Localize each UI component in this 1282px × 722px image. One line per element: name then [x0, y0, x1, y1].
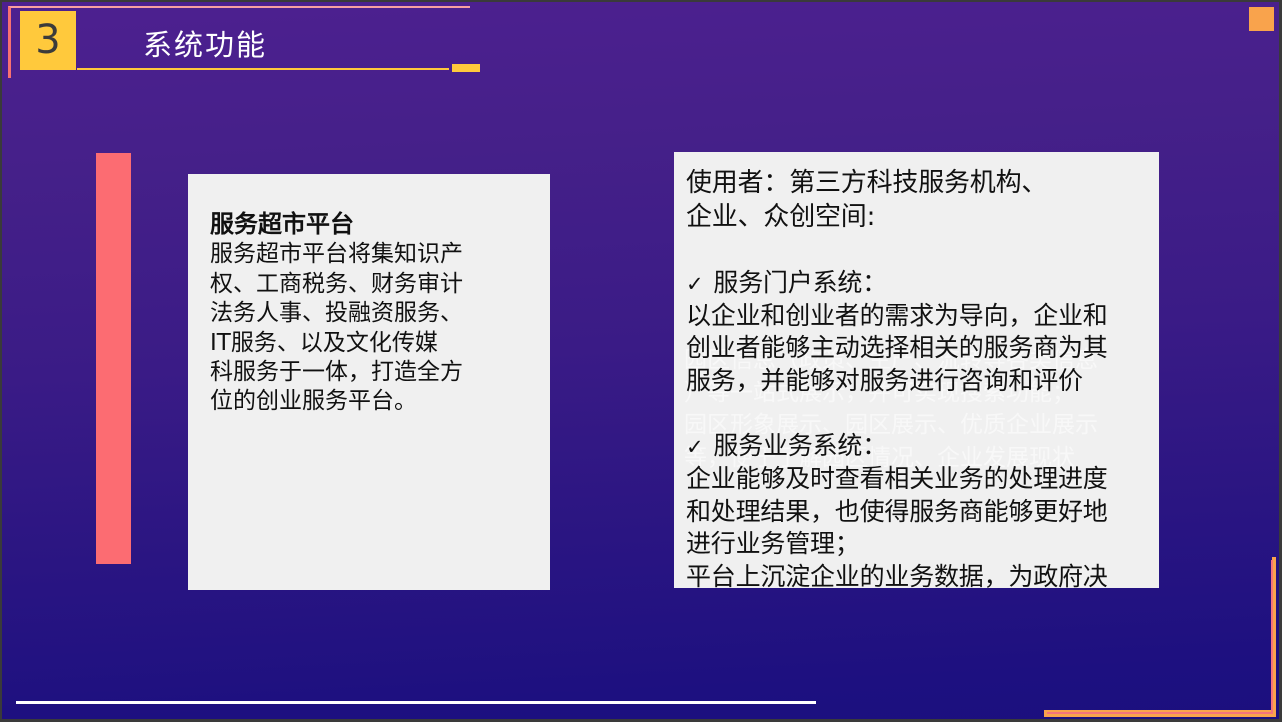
top-right-square-accent: [1249, 7, 1274, 31]
left-card-heading: 服务超市平台: [210, 210, 528, 239]
checkmark-icon: ✓: [686, 435, 703, 459]
section-number-badge: 3: [20, 11, 76, 70]
page-title: 系统功能: [143, 22, 267, 64]
left-accent-bar: [96, 153, 131, 564]
slide-edge-top: [0, 0, 1282, 2]
presentation-slide: 3 系统功能 服务超市平台 服务超市平台将集知识产 权、工商税务、财务审计 法务…: [0, 0, 1282, 722]
bottom-left-rule: [16, 701, 816, 704]
right-card-bullet-2-label: 服务业务系统：: [713, 431, 887, 460]
slide-edge-left: [0, 0, 2, 722]
right-card-bullet-2: ✓服务业务系统：: [686, 398, 1145, 463]
section-number: 3: [35, 20, 60, 60]
right-content-card: 园区信息（政策、生产、流转等各类信息 ）等一站式展示，并可实现搜索功能； 园区形…: [674, 152, 1159, 588]
left-content-card: 服务超市平台 服务超市平台将集知识产 权、工商税务、财务审计 法务人事、投融资服…: [188, 174, 550, 590]
right-card-bullet-2-body: 企业能够及时查看相关业务的处理进度 和处理结果，也使得服务商能够更好地 进行业务…: [686, 463, 1145, 588]
header-underline: [77, 68, 449, 70]
right-card-heading: 使用者：第三方科技服务机构、 企业、众创空间:: [686, 167, 1145, 235]
left-card-body: 服务超市平台将集知识产 权、工商税务、财务审计 法务人事、投融资服务、 IT服务…: [210, 240, 528, 417]
right-card-bullet-1: ✓服务门户系统：: [686, 235, 1145, 300]
header-underline-cap: [452, 64, 480, 72]
right-card-bullet-1-label: 服务门户系统：: [713, 268, 887, 297]
right-card-bullet-1-body: 以企业和创业者的需求为导向，企业和 创业者能够主动选择相关的服务商为其 服务，并…: [686, 300, 1145, 398]
checkmark-icon: ✓: [686, 272, 703, 296]
